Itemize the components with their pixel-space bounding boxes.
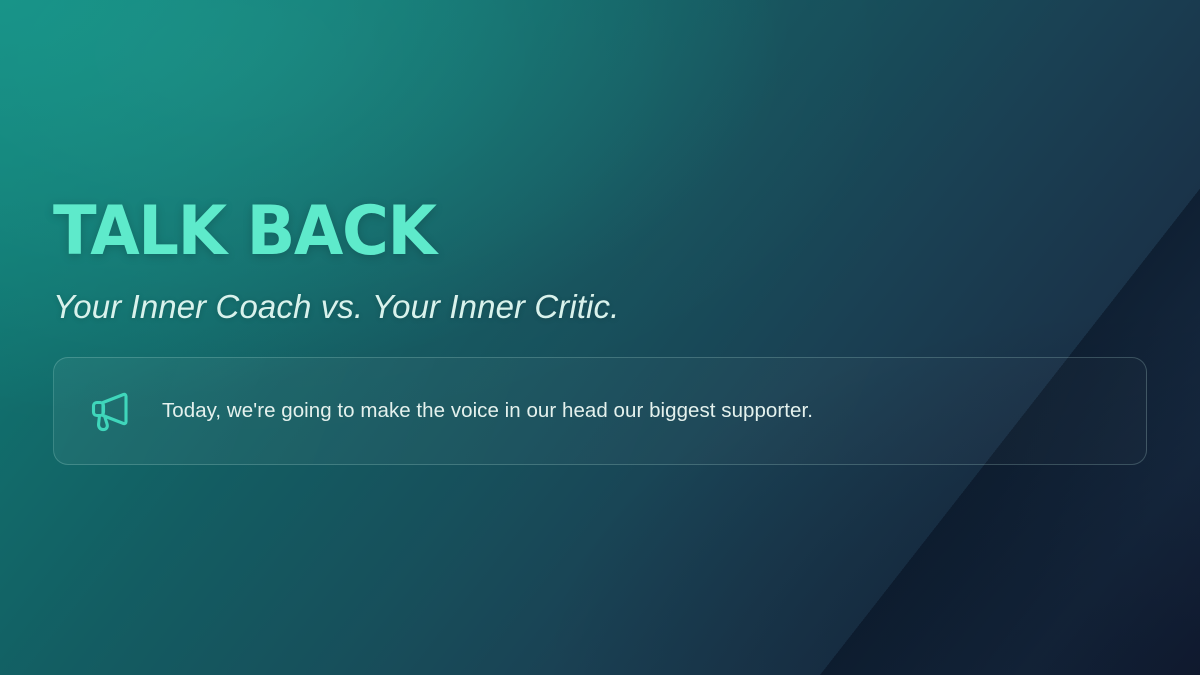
- page-title: TALK BACK: [53, 196, 1081, 268]
- callout-card: Today, we're going to make the voice in …: [53, 357, 1147, 465]
- presentation-slide: TALK BACK Your Inner Coach vs. Your Inne…: [0, 0, 1200, 675]
- megaphone-icon: [86, 387, 134, 435]
- slide-subtitle: Your Inner Coach vs. Your Inner Critic.: [53, 286, 1147, 328]
- slide-header-block: TALK BACK Your Inner Coach vs. Your Inne…: [53, 196, 1147, 328]
- callout-text: Today, we're going to make the voice in …: [162, 397, 813, 425]
